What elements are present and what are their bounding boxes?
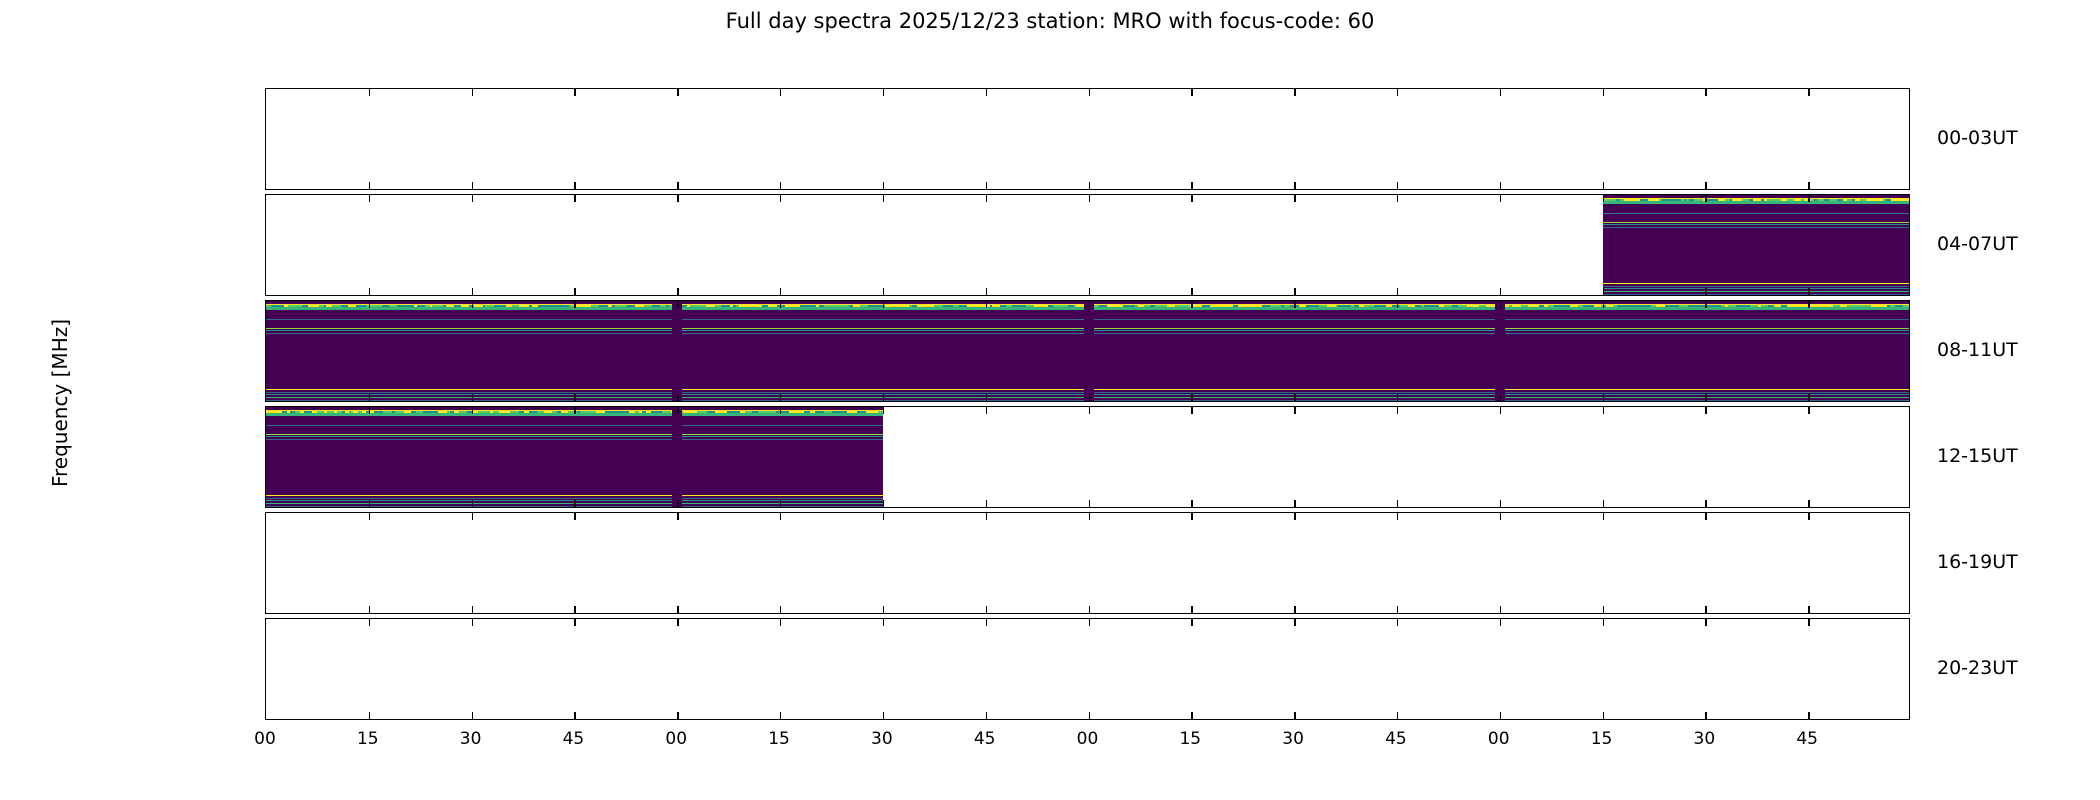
x-tick-mark-top — [1500, 301, 1501, 308]
x-tick-label: 30 — [852, 729, 912, 749]
x-tick-label: 45 — [543, 729, 603, 749]
x-tick-mark-top — [883, 619, 884, 626]
x-tick-mark-top — [1089, 301, 1090, 308]
x-tick-mark-top — [1397, 619, 1398, 626]
x-tick-mark-top — [883, 407, 884, 414]
y-tick-mark — [265, 134, 266, 135]
x-tick-mark — [1089, 606, 1090, 613]
x-tick-mark — [472, 712, 473, 719]
x-tick-mark-top — [574, 407, 575, 414]
y-tick-mark — [265, 558, 266, 559]
spectrogram-panel: 250500750 — [265, 406, 1910, 508]
spectrogram-data — [266, 407, 883, 507]
x-tick-mark — [1191, 500, 1192, 507]
x-tick-mark — [1808, 394, 1809, 401]
x-tick-mark-top — [369, 619, 370, 626]
x-tick-mark — [883, 182, 884, 189]
x-tick-mark — [1397, 394, 1398, 401]
x-tick-label: 45 — [955, 729, 1015, 749]
spectral-band — [1603, 283, 1910, 285]
spectral-band — [266, 425, 883, 426]
x-tick-mark-top — [369, 407, 370, 414]
x-tick-mark — [883, 394, 884, 401]
x-tick-mark-top — [1191, 89, 1192, 96]
x-tick-mark — [1808, 712, 1809, 719]
x-tick-mark — [472, 500, 473, 507]
x-tick-mark — [677, 606, 678, 613]
spectral-band — [266, 495, 883, 497]
x-tick-mark-top — [1191, 195, 1192, 202]
y-tick-mark — [265, 269, 266, 270]
x-tick-mark-top — [986, 301, 987, 308]
x-tick-mark-top — [883, 513, 884, 520]
x-tick-mark — [1294, 182, 1295, 189]
x-tick-mark-top — [472, 407, 473, 414]
x-tick-mark-top — [1294, 301, 1295, 308]
x-tick-mark-top — [1808, 195, 1809, 202]
y-tick-mark — [265, 106, 266, 107]
x-tick-mark — [1191, 712, 1192, 719]
segment-gap — [672, 407, 682, 507]
spectrogram-panel: 250500750 — [265, 88, 1910, 190]
x-tick-mark — [1705, 394, 1706, 401]
spectrogram-panel: 250500750 — [265, 300, 1910, 402]
x-tick-mark — [780, 500, 781, 507]
y-tick-mark — [265, 452, 266, 453]
x-tick-label: 00 — [1058, 729, 1118, 749]
x-tick-mark-top — [472, 301, 473, 308]
x-tick-mark — [472, 394, 473, 401]
x-tick-mark-top — [1500, 195, 1501, 202]
x-tick-mark-top — [472, 619, 473, 626]
x-tick-mark — [1603, 500, 1604, 507]
x-tick-mark-top — [883, 89, 884, 96]
y-tick-mark — [265, 318, 266, 319]
x-tick-mark — [574, 394, 575, 401]
x-tick-mark-top — [1089, 619, 1090, 626]
spectrogram-panel: 250500750 — [265, 512, 1910, 614]
x-tick-mark-top — [883, 301, 884, 308]
panel-row-label: 00-03UT — [1937, 127, 2018, 149]
x-tick-mark — [574, 182, 575, 189]
spectral-band — [266, 434, 883, 435]
panel-row-label: 04-07UT — [1937, 233, 2018, 255]
x-tick-mark — [369, 394, 370, 401]
x-tick-mark-top — [780, 407, 781, 414]
x-tick-mark-top — [1705, 89, 1706, 96]
x-tick-label: 30 — [1263, 729, 1323, 749]
x-tick-mark-top — [677, 513, 678, 520]
x-tick-mark — [1808, 500, 1809, 507]
x-tick-mark — [1603, 288, 1604, 295]
x-tick-mark-top — [369, 89, 370, 96]
x-tick-mark — [1808, 182, 1809, 189]
spectral-band — [1603, 291, 1910, 292]
x-tick-label: 15 — [749, 729, 809, 749]
x-tick-mark — [1294, 394, 1295, 401]
x-tick-mark-top — [1705, 195, 1706, 202]
x-tick-mark-top — [1191, 407, 1192, 414]
x-tick-mark — [1294, 712, 1295, 719]
x-tick-mark — [1191, 182, 1192, 189]
x-tick-mark — [1397, 182, 1398, 189]
x-tick-mark — [883, 288, 884, 295]
x-tick-mark — [472, 288, 473, 295]
x-tick-mark — [1705, 182, 1706, 189]
x-tick-mark — [1603, 606, 1604, 613]
x-tick-label: 15 — [338, 729, 398, 749]
x-tick-mark — [677, 712, 678, 719]
x-tick-mark — [1500, 394, 1501, 401]
x-tick-label: 45 — [1777, 729, 1837, 749]
x-tick-mark-top — [1808, 89, 1809, 96]
x-tick-label: 30 — [1674, 729, 1734, 749]
x-tick-mark — [1191, 288, 1192, 295]
x-tick-mark — [1089, 288, 1090, 295]
panel-row-label: 20-23UT — [1937, 657, 2018, 679]
x-tick-mark — [677, 500, 678, 507]
x-tick-mark — [574, 606, 575, 613]
spectral-band — [1603, 201, 1910, 203]
x-tick-mark-top — [780, 89, 781, 96]
x-tick-mark — [472, 606, 473, 613]
x-tick-mark-top — [574, 89, 575, 96]
x-tick-mark-top — [369, 513, 370, 520]
x-tick-mark-top — [574, 619, 575, 626]
x-tick-mark — [574, 500, 575, 507]
x-tick-mark-top — [1191, 301, 1192, 308]
x-tick-mark — [1089, 712, 1090, 719]
spectral-band — [1603, 227, 1910, 228]
x-tick-mark — [1808, 288, 1809, 295]
x-tick-label: 00 — [646, 729, 706, 749]
x-tick-mark — [1191, 394, 1192, 401]
x-tick-mark — [369, 712, 370, 719]
x-tick-label: 30 — [441, 729, 501, 749]
x-tick-mark-top — [1808, 513, 1809, 520]
x-tick-mark — [986, 606, 987, 613]
x-tick-mark — [1500, 182, 1501, 189]
spectrogram-data — [266, 301, 1910, 401]
x-tick-mark-top — [1808, 301, 1809, 308]
x-tick-mark-top — [1294, 619, 1295, 626]
x-tick-mark — [1397, 500, 1398, 507]
x-tick-mark-top — [1603, 513, 1604, 520]
x-tick-mark — [574, 712, 575, 719]
x-tick-mark-top — [1500, 513, 1501, 520]
x-tick-mark-top — [986, 407, 987, 414]
spectral-band — [266, 436, 883, 437]
x-tick-mark-top — [472, 89, 473, 96]
x-tick-mark-top — [677, 89, 678, 96]
x-tick-mark-top — [677, 195, 678, 202]
x-tick-mark-top — [986, 195, 987, 202]
x-tick-mark — [677, 288, 678, 295]
x-tick-mark — [1089, 500, 1090, 507]
x-tick-mark — [1603, 394, 1604, 401]
x-tick-label: 45 — [1366, 729, 1426, 749]
x-tick-mark-top — [1705, 301, 1706, 308]
x-tick-mark — [369, 500, 370, 507]
x-tick-mark-top — [1603, 407, 1604, 414]
x-tick-mark — [1500, 606, 1501, 613]
x-tick-mark-top — [1500, 619, 1501, 626]
x-tick-mark-top — [369, 195, 370, 202]
x-tick-mark-top — [780, 301, 781, 308]
spectral-band — [1603, 222, 1910, 223]
x-tick-mark-top — [677, 407, 678, 414]
x-tick-mark — [1397, 288, 1398, 295]
x-tick-label: 00 — [235, 729, 295, 749]
x-tick-mark-top — [780, 619, 781, 626]
x-tick-mark — [1191, 606, 1192, 613]
x-tick-mark-top — [780, 195, 781, 202]
x-tick-mark — [574, 288, 575, 295]
x-tick-mark — [1603, 712, 1604, 719]
x-tick-mark-top — [883, 195, 884, 202]
x-tick-mark — [1397, 606, 1398, 613]
panel-row-label: 16-19UT — [1937, 551, 2018, 573]
x-tick-mark-top — [1705, 513, 1706, 520]
x-tick-mark — [677, 394, 678, 401]
x-tick-mark-top — [1705, 619, 1706, 626]
x-tick-mark-top — [472, 513, 473, 520]
panel-row-label: 12-15UT — [1937, 445, 2018, 467]
y-axis-label: Frequency [MHz] — [48, 253, 72, 553]
spectral-band — [1603, 213, 1910, 214]
x-tick-mark — [1500, 288, 1501, 295]
x-tick-mark-top — [1191, 513, 1192, 520]
x-tick-mark-top — [1397, 89, 1398, 96]
x-tick-mark-top — [1500, 407, 1501, 414]
x-tick-mark-top — [1397, 513, 1398, 520]
x-tick-mark-top — [986, 619, 987, 626]
x-tick-mark-top — [369, 301, 370, 308]
spectral-band — [1603, 224, 1910, 225]
x-tick-mark-top — [677, 301, 678, 308]
x-tick-mark-top — [574, 513, 575, 520]
x-tick-mark — [1808, 606, 1809, 613]
x-tick-mark-top — [1603, 301, 1604, 308]
x-tick-mark — [780, 288, 781, 295]
x-tick-mark — [1294, 500, 1295, 507]
x-tick-mark — [986, 500, 987, 507]
x-tick-mark — [369, 182, 370, 189]
x-tick-label: 15 — [1572, 729, 1632, 749]
x-tick-mark-top — [1808, 619, 1809, 626]
y-tick-mark — [265, 530, 266, 531]
spectral-band — [1603, 286, 1910, 287]
figure-canvas: Full day spectra 2025/12/23 station: MRO… — [0, 0, 2100, 800]
x-tick-mark-top — [1705, 407, 1706, 414]
x-tick-mark-top — [677, 619, 678, 626]
x-tick-mark — [780, 394, 781, 401]
x-tick-mark-top — [1294, 407, 1295, 414]
x-tick-mark — [677, 182, 678, 189]
x-tick-mark-top — [472, 195, 473, 202]
x-tick-mark — [1294, 606, 1295, 613]
x-tick-mark-top — [1294, 195, 1295, 202]
x-tick-mark-top — [1397, 195, 1398, 202]
x-tick-mark-top — [1397, 301, 1398, 308]
spectrogram-data — [1603, 195, 1910, 295]
x-tick-mark-top — [1089, 195, 1090, 202]
segment-gap — [1084, 301, 1094, 401]
x-tick-mark — [883, 500, 884, 507]
x-tick-mark-top — [1089, 407, 1090, 414]
spectrogram-panel: 250500750 — [265, 618, 1910, 720]
y-tick-mark — [265, 664, 266, 665]
spectral-band — [1603, 294, 1910, 295]
spectral-band — [266, 439, 883, 440]
x-tick-mark — [780, 182, 781, 189]
y-tick-mark — [265, 212, 266, 213]
x-tick-mark — [1397, 712, 1398, 719]
x-tick-mark — [1705, 288, 1706, 295]
x-tick-mark — [883, 712, 884, 719]
spectral-band — [266, 498, 883, 499]
x-tick-mark — [1500, 712, 1501, 719]
figure-title: Full day spectra 2025/12/23 station: MRO… — [0, 9, 2100, 33]
x-tick-mark — [780, 606, 781, 613]
x-tick-mark-top — [780, 513, 781, 520]
x-tick-label: 00 — [1469, 729, 1529, 749]
x-tick-mark — [1705, 606, 1706, 613]
x-tick-mark-top — [574, 301, 575, 308]
panel-row-label: 08-11UT — [1937, 339, 2018, 361]
x-tick-mark — [986, 182, 987, 189]
x-tick-mark — [1089, 182, 1090, 189]
x-tick-label: 15 — [1160, 729, 1220, 749]
segment-gap — [672, 301, 682, 401]
x-tick-mark-top — [1808, 407, 1809, 414]
x-tick-mark-top — [1603, 619, 1604, 626]
spectrogram-panel: 250500750 — [265, 194, 1910, 296]
x-tick-mark — [1500, 500, 1501, 507]
x-tick-mark — [472, 182, 473, 189]
x-tick-mark-top — [1603, 89, 1604, 96]
x-tick-mark — [986, 394, 987, 401]
y-tick-mark — [265, 240, 266, 241]
y-tick-mark — [265, 636, 266, 637]
x-tick-mark — [1705, 500, 1706, 507]
x-tick-mark-top — [574, 195, 575, 202]
x-tick-mark-top — [1294, 89, 1295, 96]
x-tick-mark — [1089, 394, 1090, 401]
x-tick-mark-top — [1089, 89, 1090, 96]
x-tick-mark-top — [1294, 513, 1295, 520]
x-tick-mark-top — [1089, 513, 1090, 520]
y-tick-mark — [265, 346, 266, 347]
x-tick-mark — [1705, 712, 1706, 719]
y-tick-mark — [265, 163, 266, 164]
y-tick-mark — [265, 693, 266, 694]
x-tick-mark-top — [1603, 195, 1604, 202]
spectral-band — [1603, 288, 1910, 289]
y-tick-mark — [265, 587, 266, 588]
x-tick-mark-top — [986, 513, 987, 520]
x-tick-mark — [369, 288, 370, 295]
x-tick-mark — [780, 712, 781, 719]
x-tick-mark — [1294, 288, 1295, 295]
x-tick-mark-top — [1191, 619, 1192, 626]
y-tick-mark — [265, 424, 266, 425]
x-tick-mark — [1603, 182, 1604, 189]
x-tick-mark-top — [986, 89, 987, 96]
x-tick-mark-top — [1500, 89, 1501, 96]
x-tick-mark — [369, 606, 370, 613]
x-tick-mark — [986, 288, 987, 295]
x-tick-mark-top — [1397, 407, 1398, 414]
y-tick-mark — [265, 375, 266, 376]
segment-gap — [1495, 301, 1505, 401]
x-tick-mark — [883, 606, 884, 613]
y-tick-mark — [265, 481, 266, 482]
x-tick-mark — [986, 712, 987, 719]
